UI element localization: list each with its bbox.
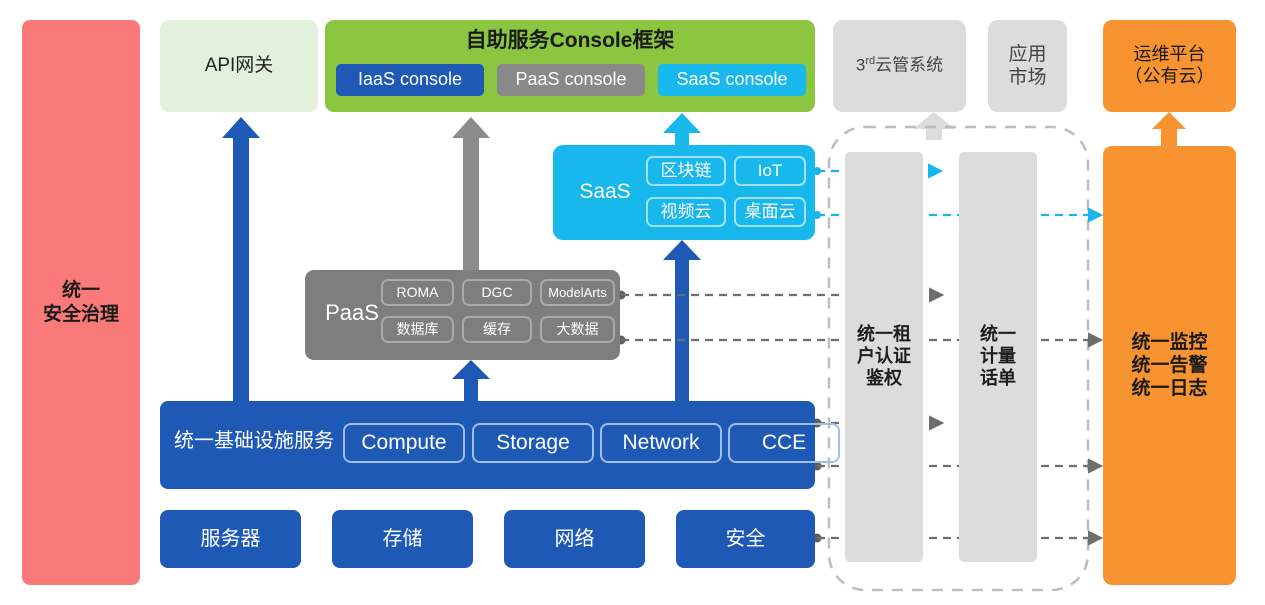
shared-service-auth-column[interactable]: 统一租 户认证 鉴权 [845, 152, 923, 562]
resource-box-storage[interactable]: 存储 [332, 510, 473, 568]
saas-chip-video-cloud[interactable]: 视频云 [646, 197, 726, 227]
infra-chip-label: Compute [361, 430, 446, 456]
resource-label: 网络 [555, 527, 595, 551]
paas-chip-label: ROMA [397, 284, 439, 301]
saas-chip-label: 区块链 [661, 161, 712, 182]
infra-chip-compute[interactable]: Compute [343, 423, 465, 463]
infra-chip-label: CCE [762, 430, 806, 456]
paas-chip-roma[interactable]: ROMA [381, 279, 454, 306]
saas-chip-label: IoT [758, 161, 783, 182]
governance-column[interactable]: 统一 安全治理 [22, 20, 140, 585]
shared-service-metering-label: 统一 计量 话单 [980, 324, 1016, 390]
paas-layer-label: PaaS [313, 300, 391, 327]
paas-chip-label: 缓存 [483, 321, 511, 338]
iaas-console-chip[interactable]: IaaS console [336, 64, 484, 96]
console-framework-box[interactable]: 自助服务Console框架 IaaS console PaaS console … [325, 20, 815, 112]
shared-service-metering-column[interactable]: 统一 计量 话单 [959, 152, 1037, 562]
paas-chip-database[interactable]: 数据库 [381, 316, 454, 343]
saas-chip-blockchain[interactable]: 区块链 [646, 156, 726, 186]
api-gateway-label: API网关 [205, 54, 274, 77]
ops-platform-label: 运维平台 （公有云） [1125, 44, 1215, 88]
api-gateway-box[interactable]: API网关 [160, 20, 318, 112]
governance-label: 统一 安全治理 [43, 279, 119, 325]
resource-label: 安全 [726, 527, 766, 551]
ops-platform-box[interactable]: 运维平台 （公有云） [1103, 20, 1236, 112]
arrow-infra-to-saas [663, 240, 701, 401]
paas-console-label: PaaS console [515, 69, 626, 91]
saas-chip-label: 桌面云 [745, 202, 796, 223]
saas-layer-box[interactable]: SaaS 区块链 IoT 视频云 桌面云 [553, 145, 815, 240]
arrow-paas-to-console [452, 117, 490, 270]
paas-chip-cache[interactable]: 缓存 [462, 316, 532, 343]
paas-chip-label: 大数据 [557, 321, 599, 338]
infra-chip-network[interactable]: Network [600, 423, 722, 463]
infra-chip-storage[interactable]: Storage [472, 423, 594, 463]
arrow-saas-to-console [663, 113, 701, 145]
architecture-diagram: 统一 安全治理 API网关 自助服务Console框架 IaaS console… [0, 0, 1265, 605]
resource-box-security[interactable]: 安全 [676, 510, 815, 568]
saas-console-chip[interactable]: SaaS console [658, 64, 806, 96]
app-market-box[interactable]: 应用 市场 [988, 20, 1067, 112]
arrow-infra-to-api-gateway [222, 117, 260, 401]
resource-label: 存储 [383, 527, 423, 551]
paas-console-chip[interactable]: PaaS console [497, 64, 645, 96]
paas-chip-modelarts[interactable]: ModelArts [540, 279, 615, 306]
saas-layer-label: SaaS [565, 179, 645, 205]
paas-chip-bigdata[interactable]: 大数据 [540, 316, 615, 343]
resource-box-server[interactable]: 服务器 [160, 510, 301, 568]
saas-chip-iot[interactable]: IoT [734, 156, 806, 186]
ops-monitoring-label: 统一监控 统一告警 统一日志 [1131, 331, 1207, 401]
arrow-shared-to-third-party [913, 112, 955, 140]
arrow-shared-to-ops [1152, 112, 1186, 146]
resource-box-network[interactable]: 网络 [504, 510, 645, 568]
infrastructure-bar[interactable]: 统一基础设施服务 Compute Storage Network CCE [160, 401, 815, 489]
ops-monitoring-column[interactable]: 统一监控 统一告警 统一日志 [1103, 146, 1236, 585]
saas-chip-desktop-cloud[interactable]: 桌面云 [734, 197, 806, 227]
paas-chip-dgc[interactable]: DGC [462, 279, 532, 306]
paas-layer-box[interactable]: PaaS ROMA DGC ModelArts 数据库 缓存 大数据 [305, 270, 620, 360]
third-party-superscript: rd [865, 55, 875, 67]
resource-label: 服务器 [201, 527, 261, 551]
infra-chip-cce[interactable]: CCE [728, 423, 840, 463]
third-party-cloud-box[interactable]: 3rd云管系统 [833, 20, 966, 112]
third-party-suffix: 云管系统 [875, 56, 943, 75]
paas-chip-label: ModelArts [548, 285, 607, 301]
infrastructure-label: 统一基础设施服务 [174, 429, 334, 453]
paas-chip-label: DGC [481, 284, 512, 301]
app-market-label: 应用 市场 [1008, 43, 1046, 89]
infra-chip-label: Network [622, 430, 699, 456]
iaas-console-label: IaaS console [358, 69, 462, 91]
shared-service-auth-label: 统一租 户认证 鉴权 [857, 324, 911, 390]
third-party-prefix: 3 [856, 56, 865, 75]
infra-chip-label: Storage [496, 430, 570, 456]
saas-chip-label: 视频云 [661, 202, 712, 223]
arrow-infra-to-paas [452, 360, 490, 401]
third-party-cloud-label: 3rd云管系统 [856, 55, 943, 76]
saas-console-label: SaaS console [676, 69, 787, 91]
paas-chip-label: 数据库 [397, 321, 439, 338]
console-framework-title: 自助服务Console框架 [325, 28, 815, 54]
